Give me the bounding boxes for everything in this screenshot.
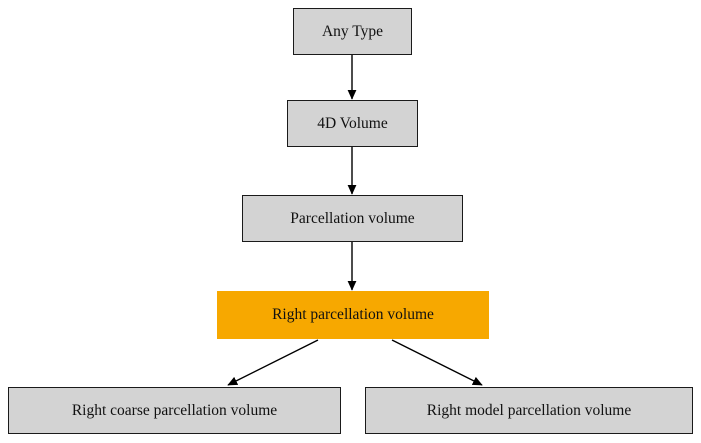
node-parcellation-volume[interactable]: Parcellation volume bbox=[242, 195, 463, 242]
node-right-parcellation-volume[interactable]: Right parcellation volume bbox=[217, 291, 489, 339]
node-label: 4D Volume bbox=[315, 116, 389, 132]
node-right-model-parcellation-volume[interactable]: Right model parcellation volume bbox=[365, 387, 693, 434]
node-label: Right model parcellation volume bbox=[425, 403, 633, 419]
node-4d-volume[interactable]: 4D Volume bbox=[287, 100, 418, 147]
diagram-canvas: Any Type4D VolumeParcellation volumeRigh… bbox=[0, 0, 701, 443]
node-label: Right parcellation volume bbox=[270, 307, 436, 323]
edge-arrow bbox=[228, 340, 318, 385]
node-label: Any Type bbox=[320, 24, 385, 40]
node-label: Right coarse parcellation volume bbox=[70, 403, 279, 419]
node-any-type[interactable]: Any Type bbox=[293, 8, 412, 55]
node-right-coarse-parcellation-volume[interactable]: Right coarse parcellation volume bbox=[8, 387, 341, 434]
edge-arrow bbox=[392, 340, 482, 385]
node-label: Parcellation volume bbox=[288, 211, 416, 227]
